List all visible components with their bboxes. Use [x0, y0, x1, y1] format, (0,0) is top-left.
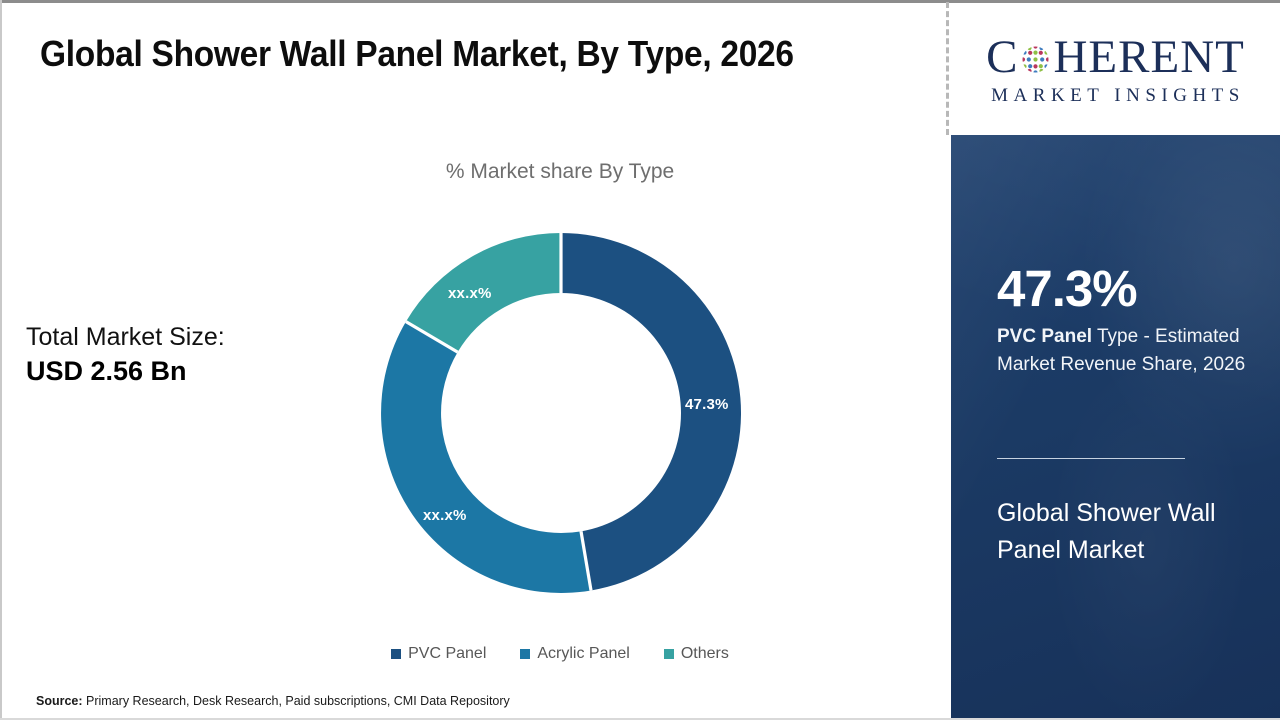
logo-wordmark: C: [986, 31, 1245, 83]
globe-icon: [1019, 43, 1052, 76]
total-market-size-value: USD 2.56 Bn: [26, 353, 356, 389]
legend-item-others[interactable]: Others: [664, 645, 729, 663]
chart-subtitle: % Market share By Type: [200, 160, 920, 184]
legend-label-pvc: PVC Panel: [408, 645, 486, 663]
legend-label-others: Others: [681, 645, 729, 663]
panel-market-name: Global Shower Wall Panel Market: [997, 495, 1237, 569]
source-text: Primary Research, Desk Research, Paid su…: [86, 694, 510, 708]
logo-subtitle: MARKET INSIGHTS: [986, 85, 1245, 107]
vertical-dashed-divider: [946, 2, 949, 135]
donut-chart: [378, 230, 744, 596]
highlight-percentage: 47.3%: [997, 263, 1137, 314]
brand-logo: C: [951, 3, 1280, 135]
donut-slice-acrylic: [381, 322, 591, 593]
legend-swatch-icon-pvc: [391, 649, 401, 659]
legend-item-acrylic-panel[interactable]: Acrylic Panel: [520, 645, 629, 663]
legend-item-pvc-panel[interactable]: PVC Panel: [391, 645, 486, 663]
legend-label-acrylic: Acrylic Panel: [537, 645, 629, 663]
logo-word-rest: HERENT: [1053, 34, 1244, 81]
left-border: [0, 0, 2, 720]
highlight-description-strong: PVC Panel: [997, 326, 1092, 347]
panel-divider: [997, 458, 1185, 459]
highlight-description: PVC Panel Type - Estimated Market Revenu…: [997, 323, 1247, 379]
total-market-size-block: Total Market Size: USD 2.56 Bn: [26, 322, 356, 390]
slice-label-others: xx.x%: [448, 285, 492, 302]
legend-swatch-icon-others: [664, 649, 674, 659]
infographic-page: Global Shower Wall Panel Market, By Type…: [0, 0, 1280, 720]
page-title: Global Shower Wall Panel Market, By Type…: [40, 32, 858, 75]
highlight-panel: 47.3% PVC Panel Type - Estimated Market …: [951, 135, 1280, 718]
donut-chart-svg: [378, 230, 744, 596]
chart-legend: PVC Panel Acrylic Panel Others: [200, 645, 920, 663]
total-market-size-label: Total Market Size:: [26, 322, 356, 353]
slice-label-acrylic: xx.x%: [423, 507, 467, 524]
source-label: Source:: [36, 694, 83, 708]
source-line: Source: Primary Research, Desk Research,…: [36, 694, 510, 708]
logo-letter-c: C: [986, 34, 1018, 81]
legend-swatch-icon-acrylic: [520, 649, 530, 659]
slice-label-pvc: 47.3%: [685, 396, 729, 413]
